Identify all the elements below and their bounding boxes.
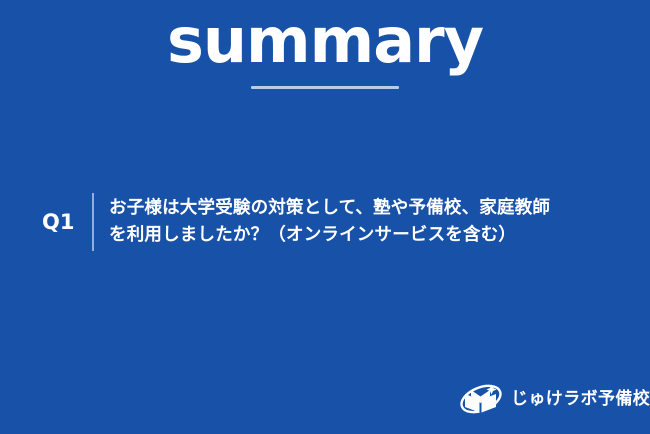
title-block: summary	[0, 4, 650, 89]
summary-slide: summary Q1 お子様は大学受験の対策として、塾や予備校、家庭教師 を利用…	[0, 0, 650, 434]
question-text: お子様は大学受験の対策として、塾や予備校、家庭教師 を利用しましたか？（オンライ…	[109, 195, 550, 248]
question-number-label: Q1	[42, 212, 92, 233]
title-underline-divider	[251, 86, 399, 89]
question-block: Q1 お子様は大学受験の対策として、塾や予備校、家庭教師 を利用しましたか？（オ…	[42, 193, 627, 251]
open-book-orbit-star-icon	[458, 380, 504, 418]
page-title: summary	[0, 4, 650, 77]
brand-logo: じゅけラボ予備校	[458, 380, 650, 418]
question-vertical-divider	[92, 193, 94, 251]
brand-logo-text: じゅけラボ予備校	[511, 391, 650, 408]
